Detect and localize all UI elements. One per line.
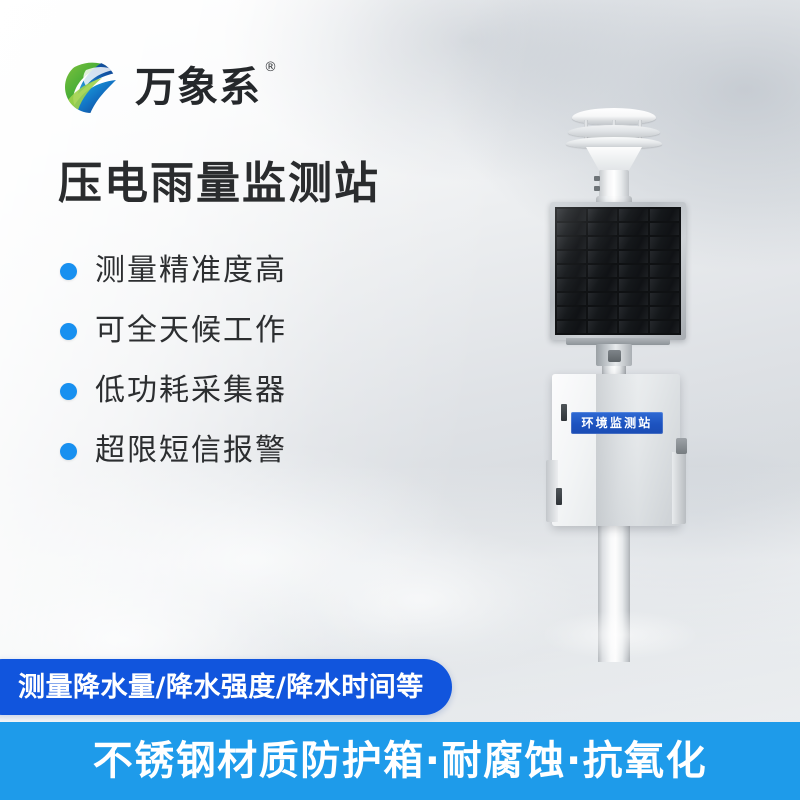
feature-item: 测量精准度高 <box>60 256 287 286</box>
brand-logo: 万象系 ® <box>60 56 261 118</box>
feature-label: 可全天候工作 <box>95 316 287 346</box>
brand-name: 万象系 ® <box>135 67 261 108</box>
bottom-banner-label: 不锈钢材质防护箱·耐腐蚀·抗氧化 <box>93 741 707 781</box>
feature-list: 测量精准度高 可全天候工作 低功耗采集器 超限短信报警 <box>60 256 287 466</box>
feature-label: 超限短信报警 <box>95 436 287 466</box>
page-title: 压电雨量监测站 <box>58 160 380 208</box>
pill-banner-label: 测量降水量/降水强度/降水时间等 <box>18 674 424 701</box>
bottom-banner: 不锈钢材质防护箱·耐腐蚀·抗氧化 <box>0 722 800 800</box>
bullet-dot-icon <box>60 323 77 340</box>
feature-label: 低功耗采集器 <box>95 376 287 406</box>
bullet-dot-icon <box>60 383 77 400</box>
registered-trademark-icon: ® <box>264 61 278 74</box>
bullet-dot-icon <box>60 263 77 280</box>
bullet-dot-icon <box>60 443 77 460</box>
product-poster: 环境监测站 <box>0 0 800 800</box>
feature-label: 测量精准度高 <box>95 256 287 286</box>
feature-item: 低功耗采集器 <box>60 376 287 406</box>
feature-item: 可全天候工作 <box>60 316 287 346</box>
brand-name-text: 万象系 <box>135 63 261 111</box>
feature-item: 超限短信报警 <box>60 436 287 466</box>
pill-banner: 测量降水量/降水强度/降水时间等 <box>0 659 452 715</box>
globe-swoosh-logo-icon <box>60 56 122 118</box>
